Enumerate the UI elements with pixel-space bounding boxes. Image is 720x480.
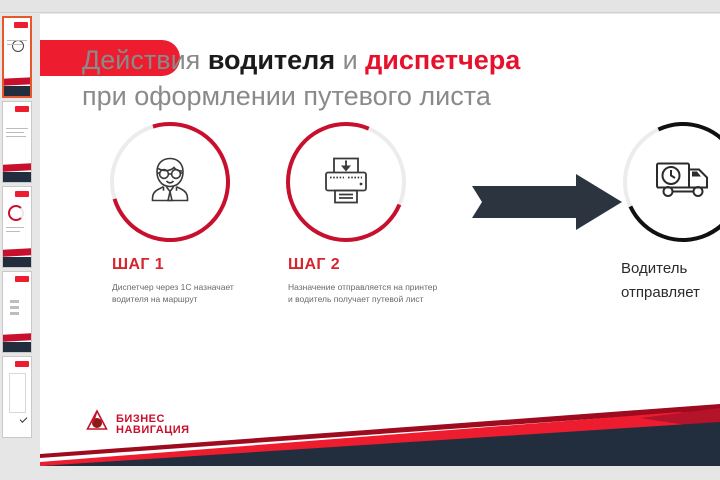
slide-thumbnail-5[interactable] <box>2 356 32 438</box>
title-bold-dark: водителя <box>208 45 335 75</box>
thumb-footer-red-band <box>3 163 31 171</box>
thumb-red-bar-icon <box>15 361 29 367</box>
step-3-line-1: Водитель <box>621 258 720 280</box>
right-arrow-icon <box>472 172 622 237</box>
slide-thumbnail-3[interactable] <box>2 186 32 268</box>
step-card-2[interactable]: ШАГ 2 Назначение отправляется на принтер… <box>278 122 468 305</box>
slide-thumbnail-1[interactable] <box>2 16 32 98</box>
thumb-text-lines <box>10 300 19 318</box>
step-card-1[interactable]: ШАГ 1 Диспетчер через 1С назначает водит… <box>102 122 282 305</box>
title-line-1: Действия водителя и диспетчера <box>82 42 702 78</box>
thumb-footer-red-band <box>3 333 31 341</box>
thumb-progress-ring-icon <box>8 205 24 221</box>
canvas-bottom-gutter <box>0 466 40 480</box>
slide-thumbnail-4[interactable] <box>2 271 32 353</box>
step-1-description: Диспетчер через 1С назначает водителя на… <box>112 281 262 305</box>
title-part-1: Действия <box>82 45 208 75</box>
step-2-label: ШАГ 2 <box>288 256 468 274</box>
footer-decorative-bands <box>40 396 720 466</box>
presentation-viewer: Действия водителя и диспетчера при оформ… <box>0 0 720 480</box>
thumb-red-bar-icon <box>15 106 29 112</box>
step-1-label: ШАГ 1 <box>112 256 282 274</box>
delivery-truck-clock-icon <box>654 156 712 209</box>
step-card-3[interactable]: Водитель отправляет <box>615 122 720 304</box>
step-2-description: Назначение отправляется на принтер и вод… <box>288 281 438 305</box>
thumb-footer-red-band <box>4 77 30 85</box>
thumb-footer-dark-band <box>3 172 31 182</box>
slide-title: Действия водителя и диспетчера при оформ… <box>82 42 702 114</box>
title-part-2: и <box>335 45 365 75</box>
thumb-text-lines <box>7 40 27 48</box>
step-2-ring <box>286 122 406 242</box>
step-3-ring <box>623 122 720 242</box>
thumb-red-bar-icon <box>15 191 29 197</box>
top-toolbar-strip <box>0 0 720 13</box>
thumb-footer-red-band <box>3 248 31 256</box>
printer-download-icon <box>316 151 376 214</box>
thumb-check-icon <box>20 415 28 423</box>
thumb-footer-dark-band <box>4 86 30 96</box>
slide-thumbnail-rail[interactable] <box>0 13 36 480</box>
title-bold-red: диспетчера <box>365 45 520 75</box>
thumb-text-lines <box>6 128 28 140</box>
person-with-glasses-icon <box>141 151 199 214</box>
slide-thumbnail-2[interactable] <box>2 101 32 183</box>
thumb-red-bar-icon <box>15 276 29 282</box>
step-1-ring <box>110 122 230 242</box>
step-3-line-2: отправляет <box>621 282 720 304</box>
title-line-2: при оформлении путевого листа <box>82 78 702 114</box>
thumb-footer-dark-band <box>3 342 31 352</box>
thumb-document-icon <box>9 373 26 413</box>
thumb-text-lines <box>6 227 24 235</box>
slide-canvas[interactable]: Действия водителя и диспетчера при оформ… <box>40 14 720 466</box>
thumb-red-bar-icon <box>14 22 28 28</box>
thumb-footer-dark-band <box>3 257 31 267</box>
